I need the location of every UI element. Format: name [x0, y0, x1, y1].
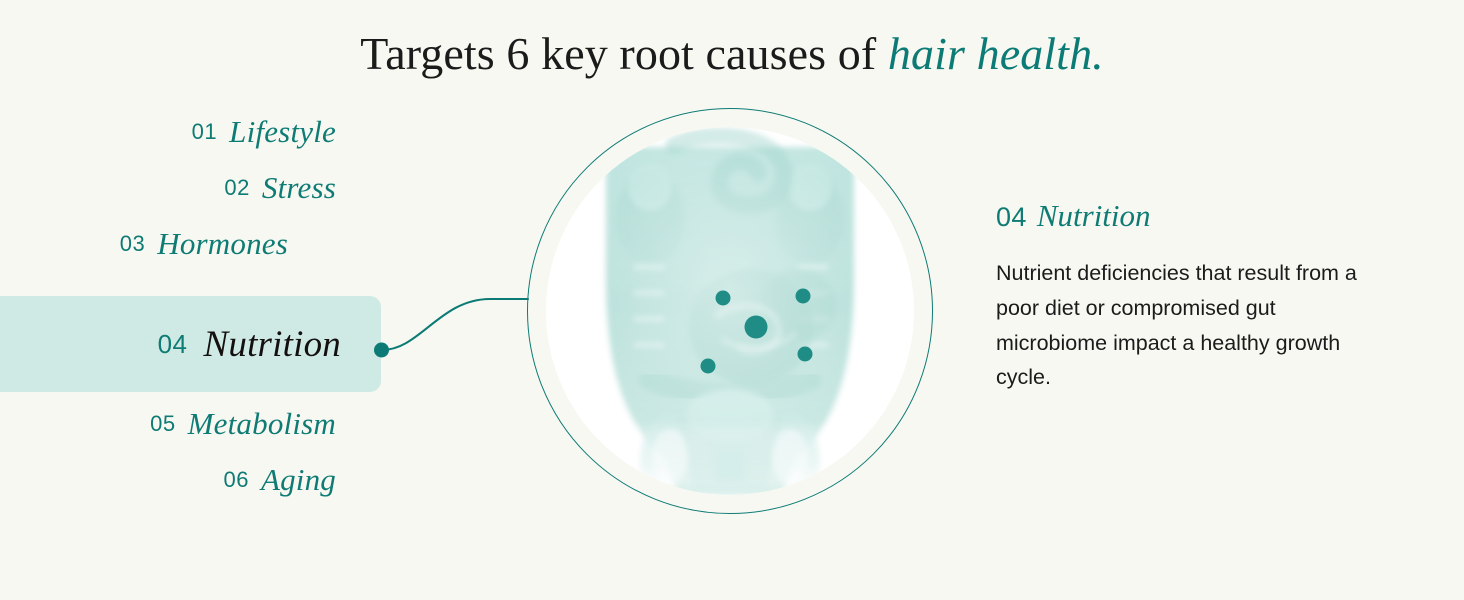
detail-number: 04: [996, 202, 1027, 232]
page-title-lead: Targets 6 key root causes of: [360, 28, 888, 79]
page-title: Targets 6 key root causes of hair health…: [0, 28, 1464, 81]
cause-number: 03: [120, 231, 145, 257]
detail-panel: 04Nutrition Nutrient deficiencies that r…: [996, 198, 1396, 395]
cause-item-stress[interactable]: 02 Stress: [0, 168, 358, 208]
cause-label: Metabolism: [188, 406, 336, 442]
cause-item-metabolism[interactable]: 05 Metabolism: [0, 404, 358, 444]
illustration-circle: [520, 100, 944, 524]
gut-microbiome-icon: [546, 127, 914, 495]
cause-item-hormones[interactable]: 03 Hormones: [0, 224, 310, 264]
detail-heading: 04Nutrition: [996, 198, 1396, 234]
cause-item-aging[interactable]: 06 Aging: [0, 460, 358, 500]
cause-item-nutrition-selected[interactable]: 04 Nutrition: [0, 296, 381, 392]
page-title-accent: hair health.: [888, 28, 1104, 79]
detail-description: Nutrient deficiencies that result from a…: [996, 256, 1388, 395]
cause-label: Lifestyle: [229, 114, 336, 150]
cause-item-lifestyle[interactable]: 01 Lifestyle: [0, 112, 358, 152]
cause-number: 04: [158, 329, 188, 360]
cause-label: Stress: [262, 170, 336, 206]
cause-label: Hormones: [157, 226, 288, 262]
cause-label: Aging: [261, 462, 336, 498]
cause-number: 02: [224, 175, 249, 201]
cause-label: Nutrition: [204, 323, 342, 366]
infographic-root: Targets 6 key root causes of hair health…: [0, 0, 1464, 600]
circle-inner-disc: [546, 127, 914, 495]
detail-title: Nutrition: [1037, 198, 1151, 233]
cause-number: 05: [150, 411, 175, 437]
cause-number: 01: [192, 119, 217, 145]
cause-number: 06: [223, 467, 248, 493]
